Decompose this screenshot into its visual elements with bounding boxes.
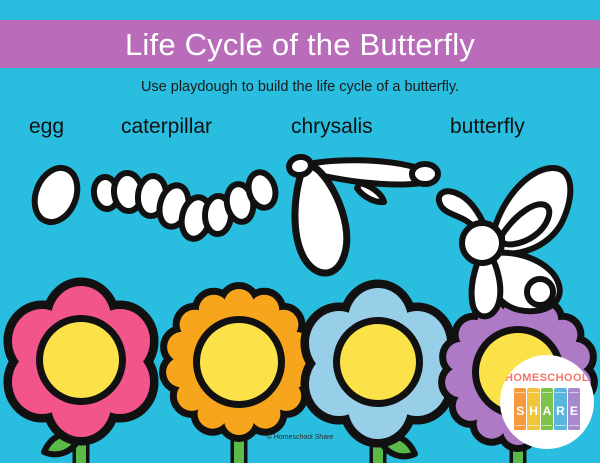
logo-book-s: S: [514, 388, 526, 430]
logo-book-a: A: [541, 388, 553, 430]
stage-label-egg: egg: [29, 116, 64, 137]
subtitle: Use playdough to build the life cycle of…: [0, 80, 600, 95]
copyright-notice: © Homeschool Share: [0, 434, 600, 441]
title-band: Life Cycle of the Butterfly: [0, 20, 600, 68]
butterfly-shape: [439, 168, 570, 316]
stage-label-caterpillar: caterpillar: [121, 116, 212, 137]
logo-wordmark: HOMESCHOOL: [500, 373, 594, 384]
logo-book-letter: H: [529, 405, 538, 417]
logo-book-letter: A: [543, 405, 552, 417]
logo-book-r: R: [554, 388, 566, 430]
stage-label-butterfly: butterfly: [450, 116, 525, 137]
life-cycle-poster: Life Cycle of the Butterfly Use playdoug…: [0, 0, 600, 463]
logo-book-h: H: [527, 388, 539, 430]
stage-label-chrysalis: chrysalis: [291, 116, 373, 137]
egg-shape: [27, 162, 85, 229]
logo-books: S H A R E: [514, 388, 580, 430]
logo-book-letter: S: [516, 405, 524, 417]
logo-book-e: E: [568, 388, 580, 430]
page-title: Life Cycle of the Butterfly: [125, 29, 475, 60]
homeschool-share-logo: HOMESCHOOL S H A R E: [500, 355, 594, 449]
logo-book-letter: R: [556, 405, 565, 417]
chrysalis-shape: [287, 155, 438, 273]
caterpillar-shape: [92, 169, 280, 241]
logo-book-letter: E: [570, 405, 578, 417]
